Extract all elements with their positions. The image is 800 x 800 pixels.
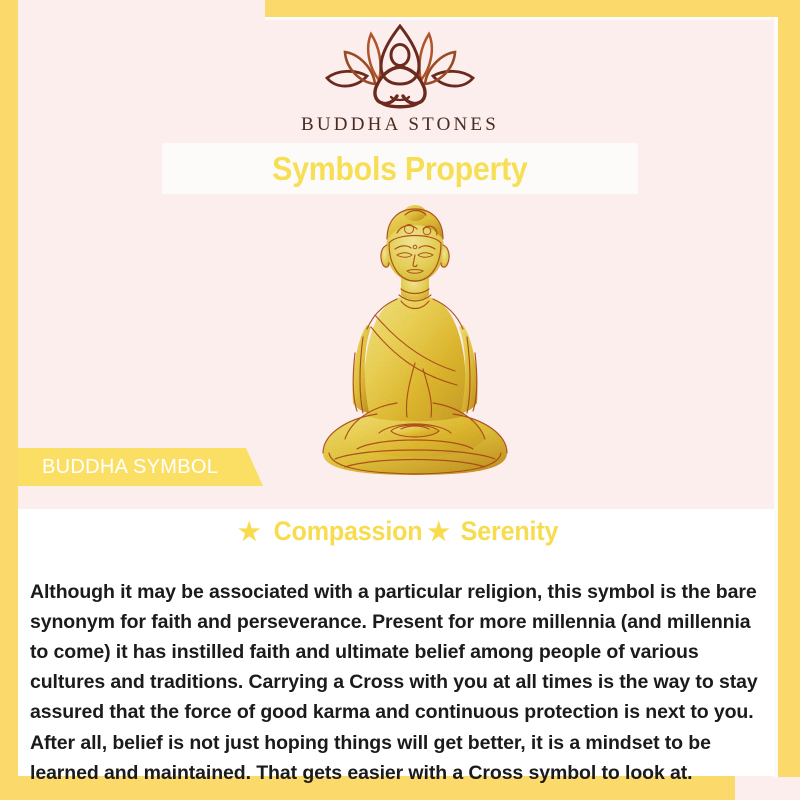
subtitle-keywords: ★ Compassion★ Serenity [0,516,800,547]
decorative-band-top [265,0,800,17]
keyword-compassion: Compassion [273,516,422,547]
title-banner: Symbols Property [162,143,638,194]
brand-logo: BUDDHA STONES [0,22,800,136]
brand-name: BUDDHA STONES [0,114,800,136]
star-icon-second: ★ [428,518,450,546]
lotus-meditation-icon [315,22,485,110]
badge-label: BUDDHA SYMBOL [42,448,218,486]
page-title: Symbols Property [272,150,527,188]
decorative-gap-top [265,17,778,20]
poster-canvas: BUDDHA STONES Symbols Property [0,0,800,800]
keyword-serenity: Serenity [461,516,559,547]
status-badge: BUDDHA SYMBOL [18,448,263,486]
golden-seated-buddha-statue [305,203,525,491]
star-icon-first: ★ [238,518,260,546]
description-paragraph: Although it may be associated with a par… [30,577,772,788]
